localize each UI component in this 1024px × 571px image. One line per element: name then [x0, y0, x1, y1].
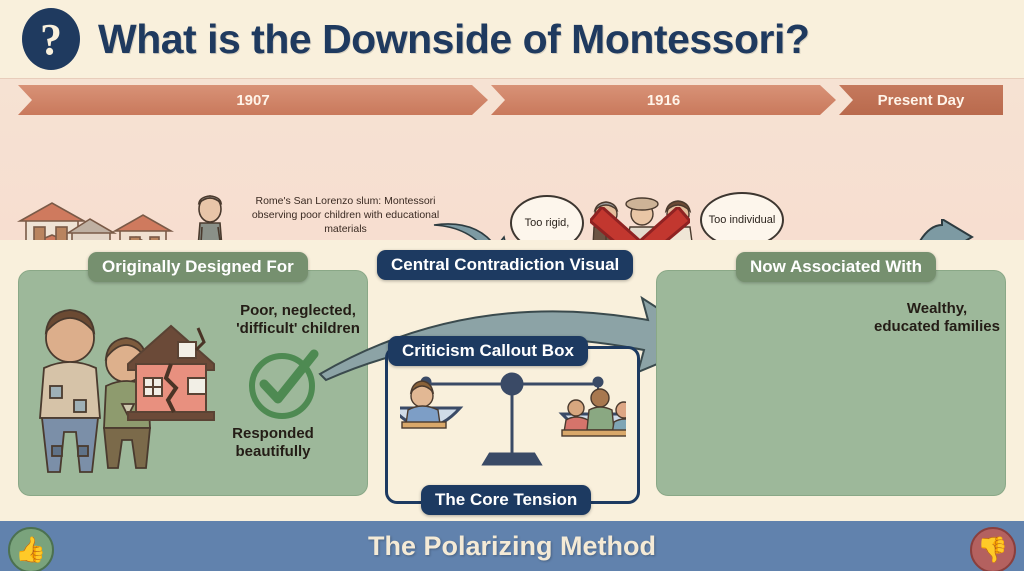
page-title: What is the Downside of Montessori? [98, 16, 809, 63]
footer-bar: 👍 The Polarizing Method 👎 [0, 521, 1024, 571]
callout-bottom-header: The Core Tension [421, 485, 591, 515]
infographic-page: ? What is the Downside of Montessori? 19… [0, 0, 1024, 571]
thumbs-up-icon[interactable]: 👍 [8, 527, 54, 571]
timeline-segment-present-day[interactable]: Present Day [839, 85, 1003, 115]
thumbs-down-icon[interactable]: 👎 [970, 527, 1016, 571]
check-mark-icon [248, 344, 326, 422]
timeline-segment-1907[interactable]: 1907 [18, 85, 488, 115]
scene-caption-1907: Rome's San Lorenzo slum: Montessori obse… [238, 195, 453, 237]
timeline-segment-1916[interactable]: 1916 [491, 85, 836, 115]
callout-top-header: Criticism Callout Box [388, 336, 588, 366]
cracked-house-icon [116, 320, 226, 425]
footer-title: The Polarizing Method [368, 531, 656, 562]
left-panel-outcome: Responded beautifully [198, 425, 348, 462]
right-panel-header: Now Associated With [736, 252, 936, 282]
question-mark-badge-icon: ? [22, 8, 80, 70]
right-panel-subject: Wealthy, educated families [872, 300, 1002, 337]
historical-scene-band: 1907 1916 Present Day [0, 78, 1024, 240]
comparison-section: Originally Designed For [0, 240, 1024, 514]
balance-scale-icon [400, 368, 626, 480]
timeline: 1907 1916 Present Day [18, 85, 1006, 115]
title-bar: ? What is the Downside of Montessori? [0, 0, 1024, 78]
left-panel-header: Originally Designed For [88, 252, 308, 282]
